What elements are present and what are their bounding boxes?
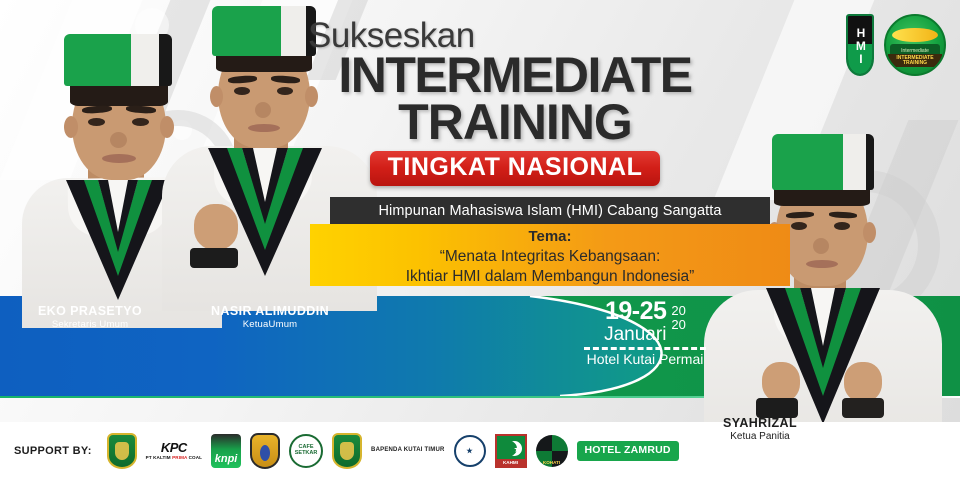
cafe-setkar-label: CAFE SETKAR xyxy=(289,434,323,468)
logo-group: HMI Intermediate INTERMEDIATE TRAINING xyxy=(846,14,946,76)
theme-line-1: “Menata Integritas Kebangsaan: xyxy=(310,247,790,267)
seal-logo: ★ xyxy=(454,435,486,467)
kpc-logo: KPC PT KALTIM PRIMA COAL xyxy=(146,441,202,461)
kpc-sub-accent: PRIMA xyxy=(172,455,187,460)
organization-label: Himpunan Mahasiswa Islam (HMI) Cabang Sa… xyxy=(378,203,721,219)
korps-logo: KOHATI xyxy=(536,435,568,467)
bapenda-logo: BAPENDA KUTAI TIMUR xyxy=(371,447,444,455)
event-year-bottom: 20 xyxy=(671,318,685,332)
theme-label: Tema: xyxy=(310,228,790,247)
person-caption-eko: EKO PRASETYO Sekretaris Umum xyxy=(10,304,170,330)
kahmi-logo: ★ KAHMI xyxy=(495,434,527,468)
status-badge: TINGKAT NASIONAL xyxy=(370,151,661,186)
kpc-sub-suffix: COAL xyxy=(187,455,202,460)
person-name: EKO PRASETYO xyxy=(10,304,170,318)
kpc-logo-label: KPC xyxy=(146,441,202,454)
theme-bar: Tema: “Menata Integritas Kebangsaan: Ikh… xyxy=(310,224,790,286)
person-caption-nasir: NASIR ALIMUDDIN KetuaUmum xyxy=(180,304,360,330)
person-caption-syahrizal: SYAHRIZAL Ketua Panitia xyxy=(670,416,850,442)
kahmi-label: KAHMI xyxy=(497,459,525,466)
event-date-venue: 19-25 Januari 20 20 Hotel Kutai Permai xyxy=(560,300,730,367)
person-role: Sekretaris Umum xyxy=(10,319,170,330)
intermediate-training-emblem-icon: Intermediate INTERMEDIATE TRAINING xyxy=(884,14,946,76)
event-year-top: 20 xyxy=(671,304,685,318)
event-banner: Sukseskan INTERMEDIATE TRAINING TINGKAT … xyxy=(0,0,960,480)
korps-label: KOHATI xyxy=(536,435,568,467)
person-role: Ketua Panitia xyxy=(670,431,850,442)
date-divider xyxy=(584,347,706,350)
person-role: KetuaUmum xyxy=(180,319,360,330)
organization-bar: Himpunan Mahasiswa Islam (HMI) Cabang Sa… xyxy=(330,197,770,224)
speaker-names: EKO PRASETYO Sekretaris Umum NASIR ALIMU… xyxy=(0,296,530,344)
hotel-zamrud-label: HOTEL ZAMRUD xyxy=(577,441,679,460)
cafe-setkar-logo: CAFE SETKAR xyxy=(289,434,323,468)
theme-line-2: Ikhtiar HMI dalam Membangun Indonesia” xyxy=(310,267,790,287)
title-line-2: TRAINING xyxy=(300,98,730,147)
knpi-logo: knpi xyxy=(211,434,241,468)
kpc-sub-prefix: PT KALTIM xyxy=(146,455,172,460)
event-month: Januari xyxy=(604,325,666,344)
bapenda-label: BAPENDA KUTAI TIMUR xyxy=(371,447,444,455)
police-crest-logo xyxy=(250,433,280,469)
hmi-logo-label: HMI xyxy=(848,16,872,74)
person-name: SYAHRIZAL xyxy=(670,416,850,430)
kutai-timur-crest-logo-2 xyxy=(332,433,362,469)
kutai-timur-crest-logo xyxy=(107,433,137,469)
event-venue: Hotel Kutai Permai xyxy=(560,352,730,367)
star-icon: ★ xyxy=(514,445,522,454)
title-line-1: INTERMEDIATE xyxy=(300,51,730,99)
person-name: NASIR ALIMUDDIN xyxy=(180,304,360,318)
hotel-zamrud-logo: HOTEL ZAMRUD xyxy=(577,441,679,460)
hmi-logo: HMI xyxy=(846,14,874,76)
emblem-ribbon-label: INTERMEDIATE TRAINING xyxy=(888,54,942,67)
headline-block: Sukseskan INTERMEDIATE TRAINING TINGKAT … xyxy=(300,18,730,186)
event-day-range: 19-25 xyxy=(604,300,666,324)
support-by-label: SUPPORT BY: xyxy=(14,445,92,457)
knpi-logo-label: knpi xyxy=(211,434,241,468)
